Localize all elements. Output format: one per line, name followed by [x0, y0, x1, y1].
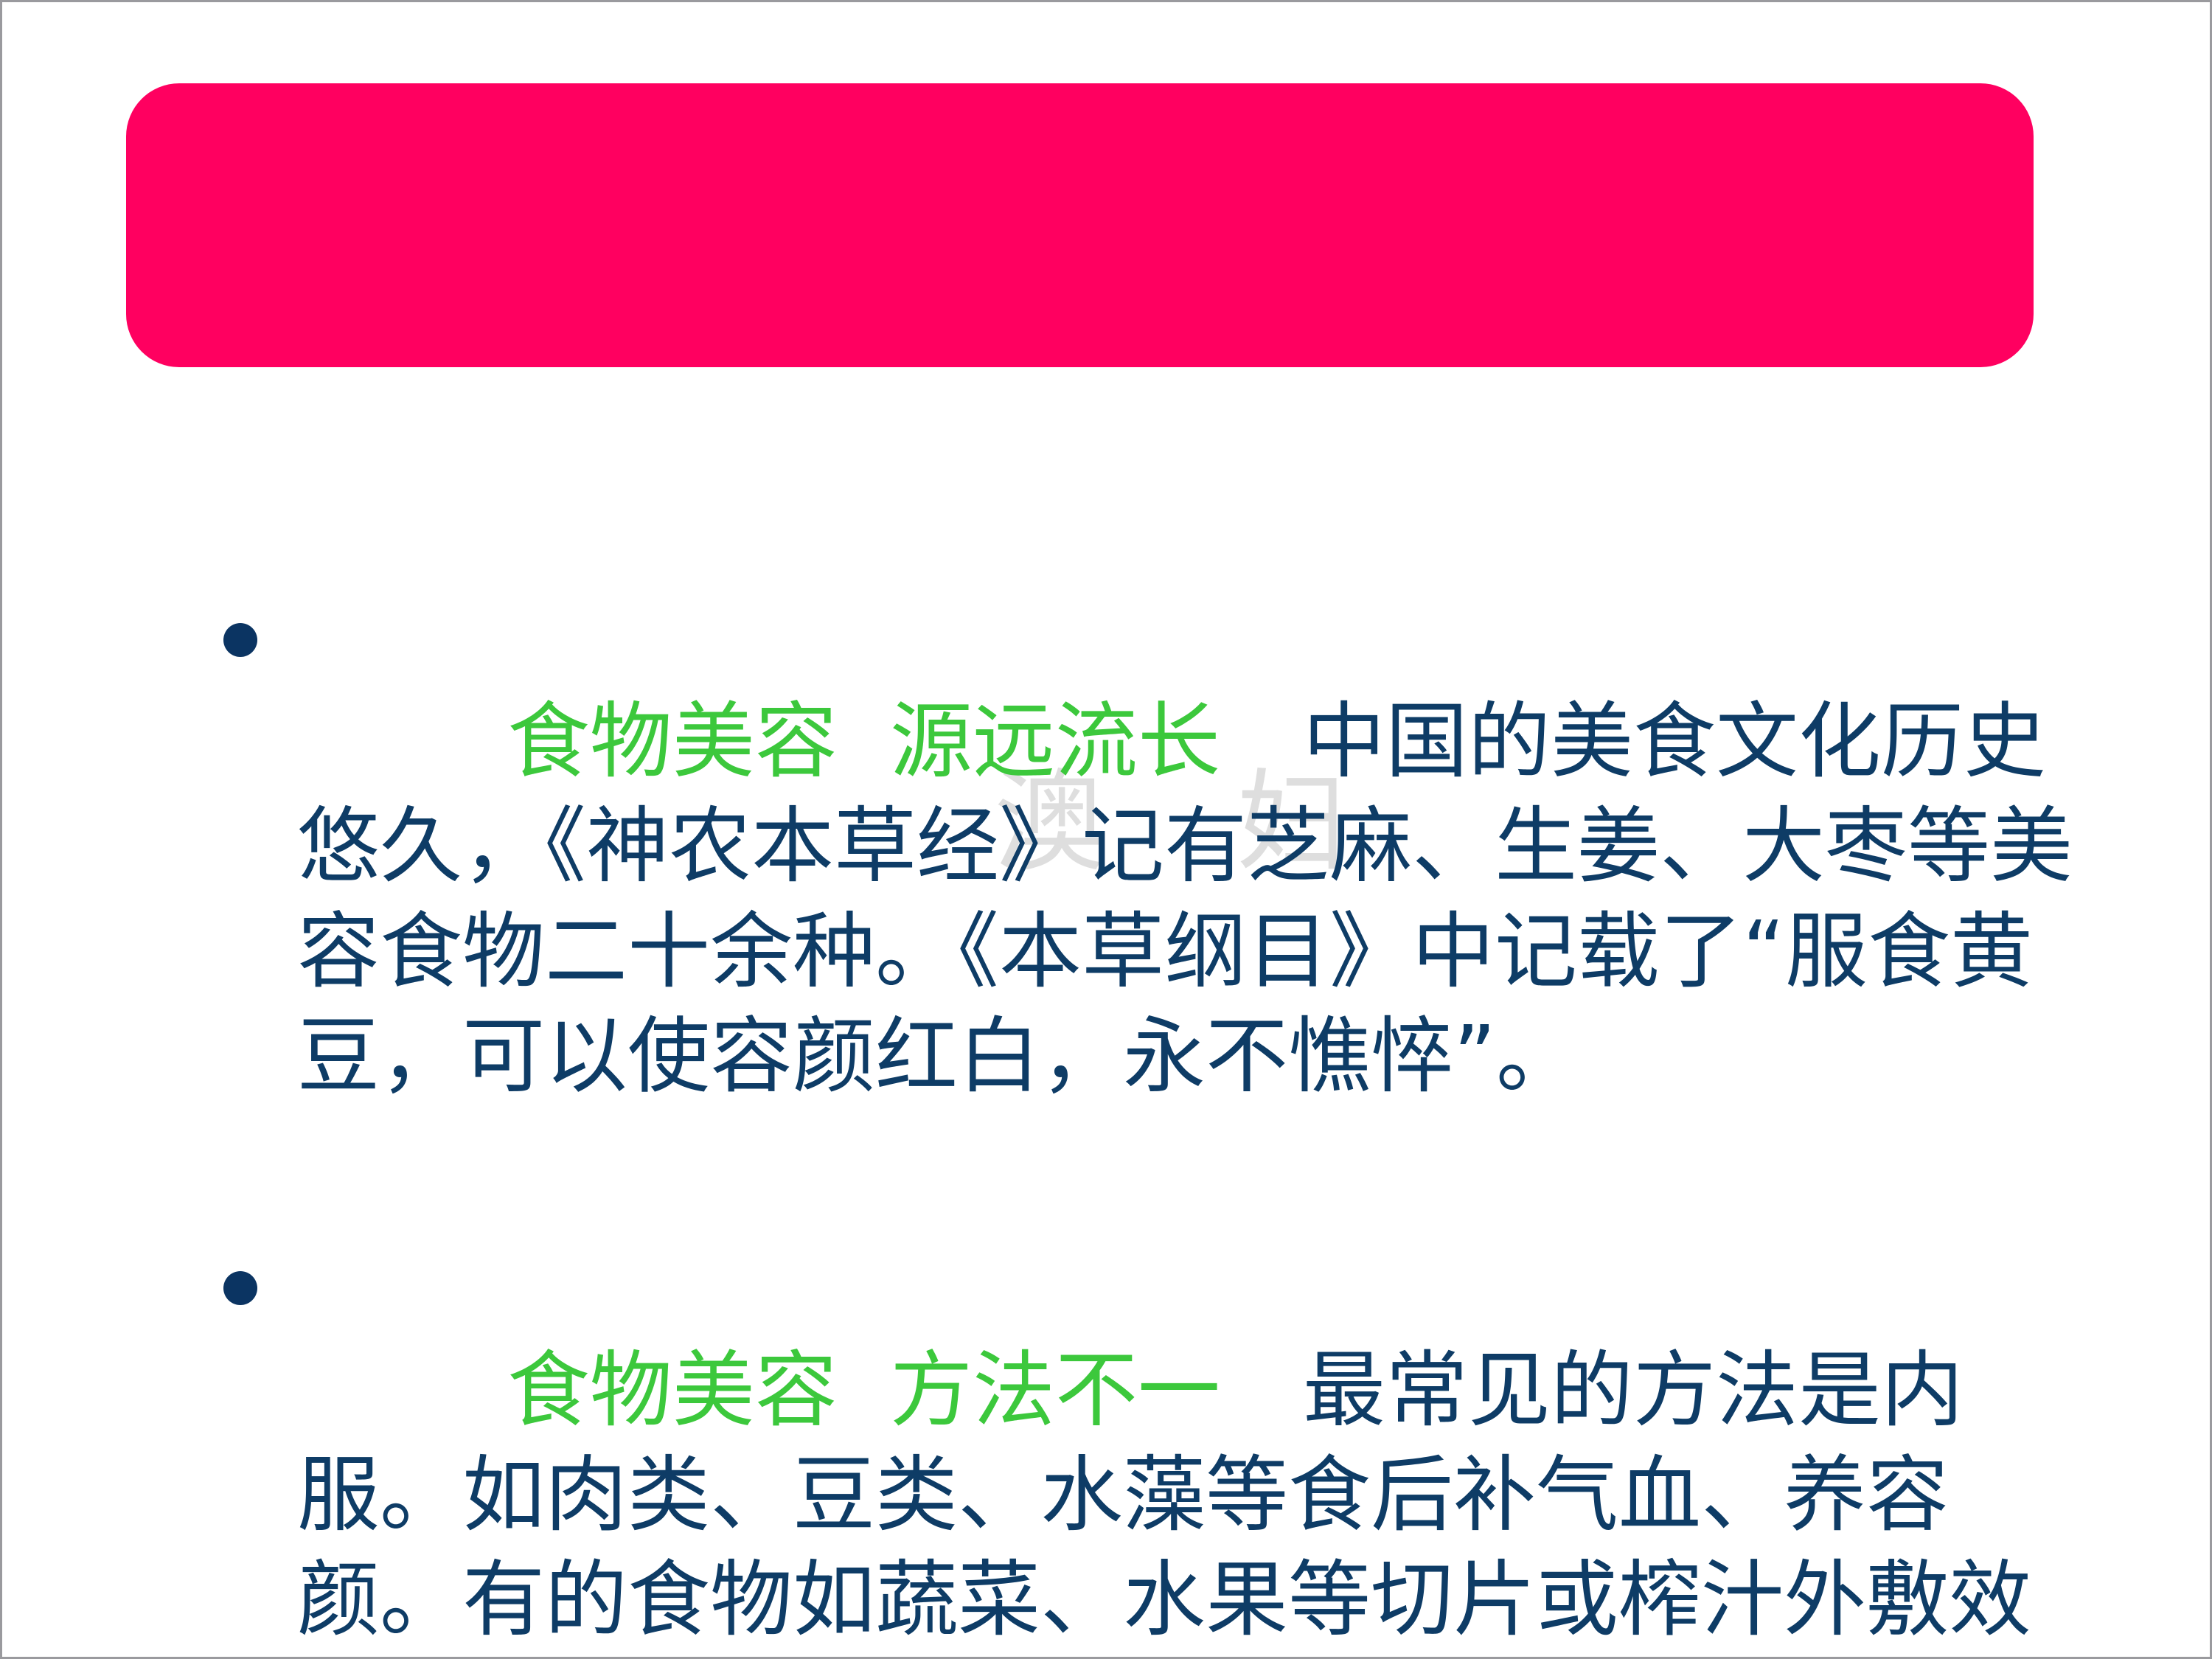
- title-banner[interactable]: [126, 83, 2034, 367]
- bullet-marker-icon: [223, 623, 257, 657]
- bullet-lead-phrase: 食物美容 源远流长: [507, 694, 1220, 790]
- bullet-lead-phrase: 食物美容 方法不一: [507, 1343, 1220, 1439]
- list-item: 食物美容 源远流长 中国的美食文化历史悠久，《神农本草经》记有芝麻、生姜、大枣等…: [223, 585, 2089, 1214]
- presentation-slide: 澳 妇 食物美容 源远流长 中国的美食文化历史悠久，《神农本草经》记有芝麻、生姜…: [0, 0, 2212, 1659]
- bullet-paragraph: 食物美容 源远流长 中国的美食文化历史悠久，《神农本草经》记有芝麻、生姜、大枣等…: [297, 585, 2089, 1214]
- slide-title: [126, 83, 2034, 142]
- body-text-block: 食物美容 源远流长 中国的美食文化历史悠久，《神农本草经》记有芝麻、生姜、大枣等…: [223, 585, 2089, 1659]
- bullet-paragraph: 食物美容 方法不一 最常见的方法是内服。如肉类、豆类、水藻等食后补气血、养容颜。…: [297, 1233, 2089, 1659]
- list-item: 食物美容 方法不一 最常见的方法是内服。如肉类、豆类、水藻等食后补气血、养容颜。…: [223, 1233, 2089, 1659]
- bullet-marker-icon: [223, 1271, 257, 1305]
